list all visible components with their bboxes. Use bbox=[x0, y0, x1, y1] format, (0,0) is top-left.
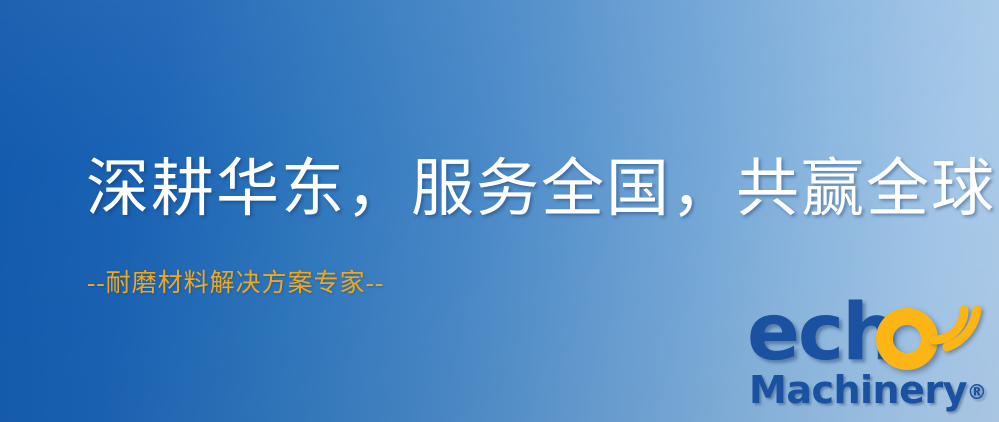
logo-subword-machinery: Machinery® bbox=[749, 368, 987, 414]
logo-wordmark-ech: ech bbox=[747, 292, 896, 374]
hero-banner: 深耕华东，服务全国，共赢全球 --耐磨材料解决方案专家-- ech Machin… bbox=[0, 0, 999, 422]
banner-headline: 深耕华东，服务全国，共赢全球 bbox=[86, 152, 996, 226]
company-logo: ech Machinery® bbox=[745, 292, 997, 418]
logo-o-group bbox=[876, 298, 954, 374]
echo-signal-waves-icon bbox=[920, 290, 982, 352]
banner-subtitle: --耐磨材料解决方案专家-- bbox=[87, 268, 384, 300]
logo-subword-text: Machinery bbox=[749, 368, 967, 412]
registered-trademark-icon: ® bbox=[967, 380, 987, 404]
